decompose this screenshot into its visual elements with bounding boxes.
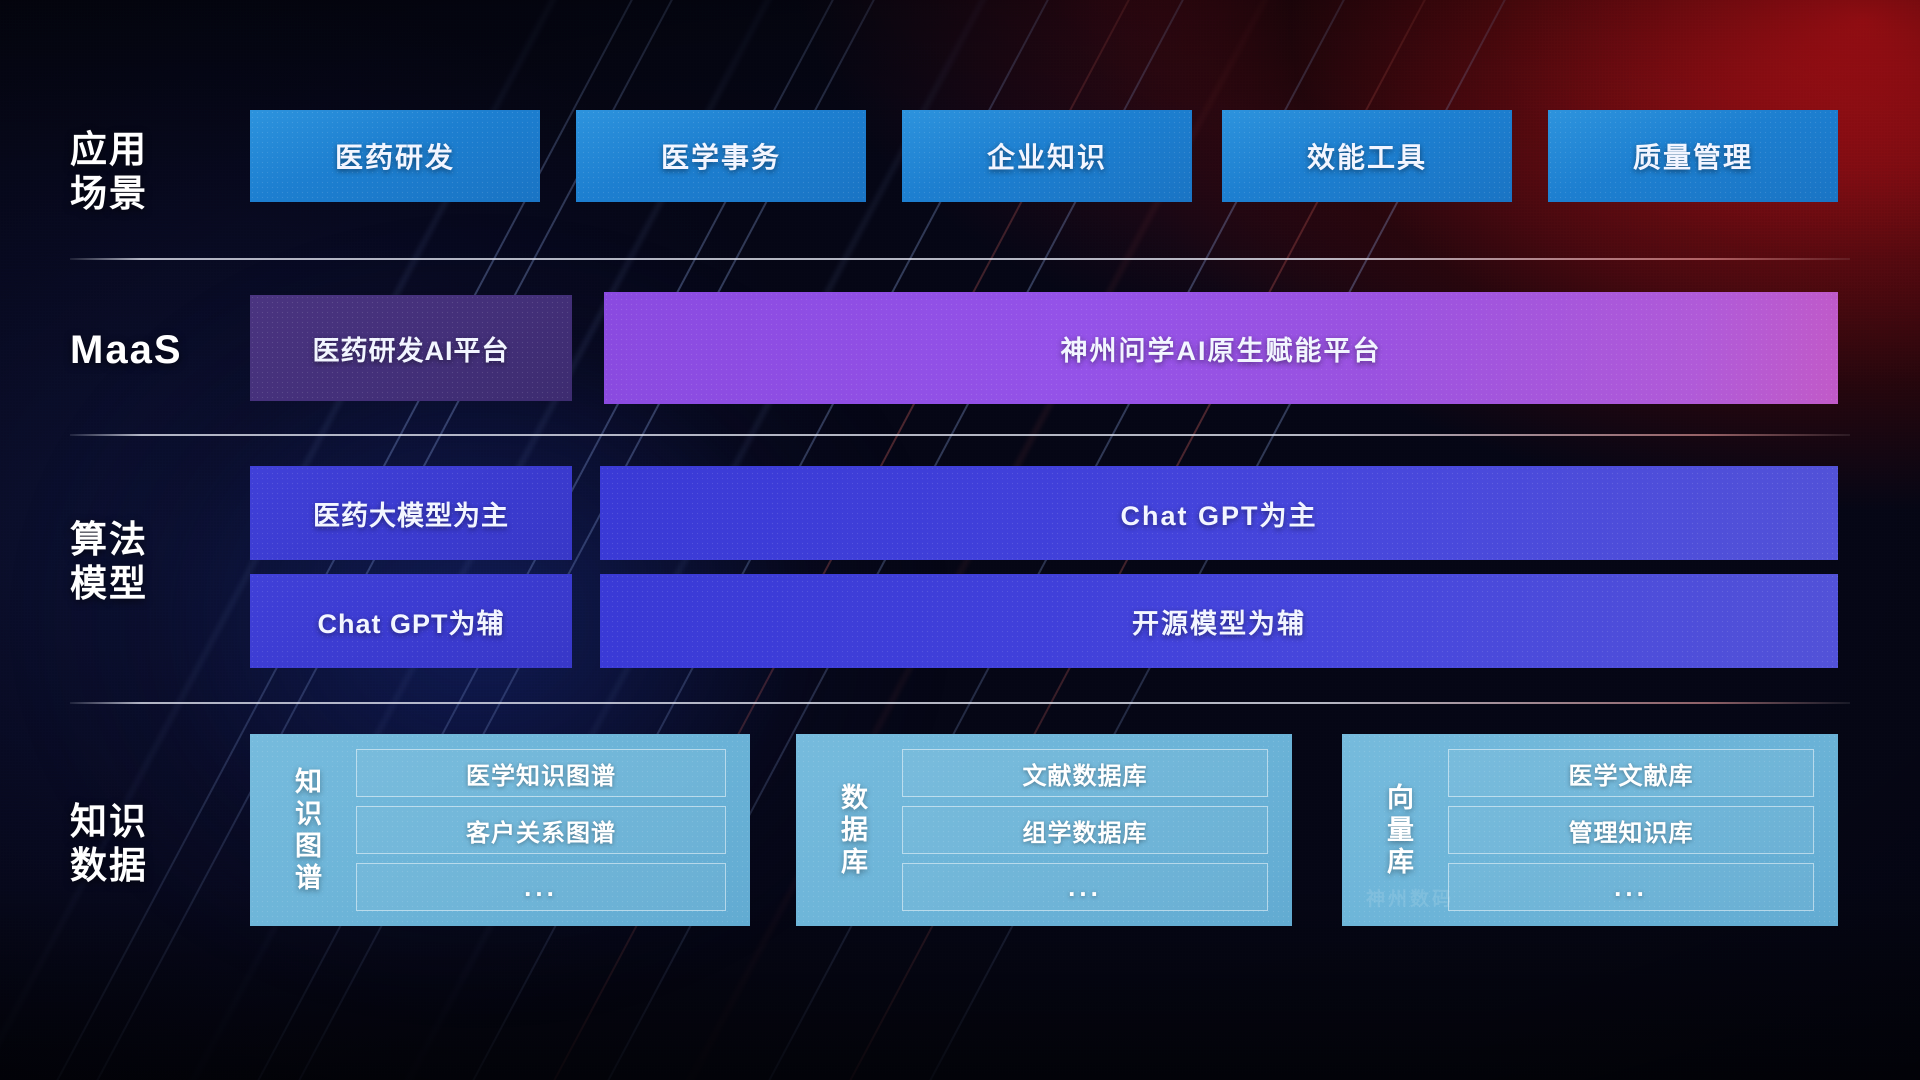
- row-label-algorithm: 算法 模型: [70, 518, 200, 606]
- knowledge-panel-0-item-0[interactable]: 医学知识图谱: [356, 749, 726, 797]
- divider-maas-algorithm: [70, 434, 1850, 436]
- row-label-scenarios: 应用 场景: [70, 128, 200, 216]
- knowledge-panel-0-title: 知识图谱: [276, 766, 342, 894]
- row-label-maas: MaaS: [70, 328, 200, 372]
- algorithm-row2-left-tile[interactable]: Chat GPT为辅: [250, 574, 572, 668]
- maas-left-tile[interactable]: 医药研发AI平台: [250, 295, 572, 401]
- knowledge-panel-2-item-0[interactable]: 医学文献库: [1448, 749, 1814, 797]
- knowledge-panel-0-item-2[interactable]: ...: [356, 863, 726, 911]
- row-label-knowledge-line2: 数据: [70, 844, 200, 888]
- knowledge-panel-2-item-2[interactable]: ...: [1448, 863, 1814, 911]
- algorithm-row1-right-tile[interactable]: Chat GPT为主: [600, 466, 1838, 560]
- knowledge-panel-0[interactable]: 知识图谱 医学知识图谱 客户关系图谱 ...: [250, 734, 750, 926]
- scenario-tile-0[interactable]: 医药研发: [250, 110, 540, 202]
- knowledge-panel-0-items: 医学知识图谱 客户关系图谱 ...: [356, 749, 726, 911]
- knowledge-panel-1-item-1[interactable]: 组学数据库: [902, 806, 1268, 854]
- row-label-algorithm-line2: 模型: [70, 562, 200, 606]
- scenario-tile-1[interactable]: 医学事务: [576, 110, 866, 202]
- divider-scenarios-maas: [70, 258, 1850, 260]
- knowledge-panel-1-item-2[interactable]: ...: [902, 863, 1268, 911]
- scenario-tile-4[interactable]: 质量管理: [1548, 110, 1838, 202]
- knowledge-panel-0-item-1[interactable]: 客户关系图谱: [356, 806, 726, 854]
- knowledge-panel-1[interactable]: 数据库 文献数据库 组学数据库 ...: [796, 734, 1292, 926]
- row-label-algorithm-line1: 算法: [70, 518, 200, 562]
- knowledge-panel-2-item-1[interactable]: 管理知识库: [1448, 806, 1814, 854]
- knowledge-panel-1-title: 数据库: [822, 782, 888, 878]
- knowledge-panel-2-items: 医学文献库 管理知识库 ...: [1448, 749, 1814, 911]
- architecture-diagram: 应用 场景 医药研发 医学事务 企业知识 效能工具 质量管理 MaaS 医药研发…: [0, 0, 1920, 1080]
- scenario-tile-2[interactable]: 企业知识: [902, 110, 1192, 202]
- knowledge-panel-2[interactable]: 向量库 医学文献库 管理知识库 ...: [1342, 734, 1838, 926]
- row-label-knowledge: 知识 数据: [70, 800, 200, 888]
- algorithm-row1-left-tile[interactable]: 医药大模型为主: [250, 466, 572, 560]
- knowledge-panel-2-title: 向量库: [1368, 782, 1434, 878]
- row-label-scenarios-line2: 场景: [70, 172, 200, 216]
- row-label-knowledge-line1: 知识: [70, 800, 200, 844]
- row-label-scenarios-line1: 应用: [70, 128, 200, 172]
- algorithm-row2-right-tile[interactable]: 开源模型为辅: [600, 574, 1838, 668]
- knowledge-panel-1-item-0[interactable]: 文献数据库: [902, 749, 1268, 797]
- divider-algorithm-knowledge: [70, 702, 1850, 704]
- scenario-tile-3[interactable]: 效能工具: [1222, 110, 1512, 202]
- knowledge-panel-1-items: 文献数据库 组学数据库 ...: [902, 749, 1268, 911]
- maas-right-tile[interactable]: 神州问学AI原生赋能平台: [604, 292, 1838, 404]
